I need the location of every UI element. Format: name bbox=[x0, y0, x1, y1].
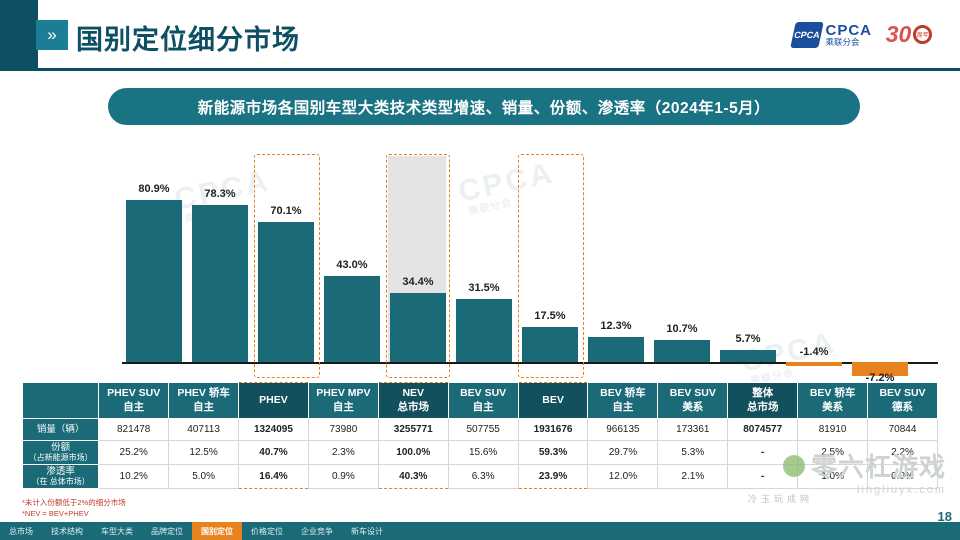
bar-phev-suv-zizhu bbox=[126, 200, 182, 362]
cell-1-8: 5.3% bbox=[658, 441, 728, 465]
cell-2-10: 1.0% bbox=[798, 464, 868, 488]
col-header-2: PHEV bbox=[239, 383, 309, 419]
footnotes: *未计入份额低于2%的细分市场 *NEV = BEV+PHEV bbox=[22, 498, 126, 520]
col-header-1-l2: 自主 bbox=[193, 401, 214, 413]
col-header-9: 整体 总市场 bbox=[728, 383, 798, 419]
footer-item-1[interactable]: 技术结构 bbox=[42, 522, 92, 540]
row-header-2-label: 渗透率 bbox=[46, 466, 75, 477]
cpca-logo-text: CPCA 乘联分会 bbox=[825, 23, 872, 48]
col-header-0-l1: PHEV SUV bbox=[107, 387, 160, 399]
bar-chart: CPCA 乘联分会 CPCA 乘联分会 CPCA 乘联分会 80.9% 78.3… bbox=[22, 140, 938, 378]
col-header-5-l1: BEV SUV bbox=[460, 387, 506, 399]
bar-bev-suv-zizhu bbox=[456, 299, 512, 362]
anniversary-logo: 30 周年 bbox=[880, 18, 938, 50]
footer-item-6[interactable]: 企业竞争 bbox=[292, 522, 342, 540]
cell-2-11: 0.9% bbox=[868, 464, 938, 488]
cell-1-6: 59.3% bbox=[518, 441, 588, 465]
bar-bev-sedan-meixi bbox=[786, 362, 842, 366]
site-watermark-mid: 冷玉玩成网 bbox=[748, 492, 813, 505]
bar-label-7: 12.3% bbox=[582, 320, 650, 332]
table-corner-cell bbox=[23, 383, 99, 419]
footer-item-5[interactable]: 价格定位 bbox=[242, 522, 292, 540]
col-header-8: BEV SUV 美系 bbox=[658, 383, 728, 419]
footer-item-7[interactable]: 新车设计 bbox=[342, 522, 392, 540]
col-header-6: BEV bbox=[518, 383, 588, 419]
anniversary-ring-icon: 周年 bbox=[913, 25, 932, 44]
footnote-1: *NEV = BEV+PHEV bbox=[22, 509, 126, 520]
col-header-2-l1: PHEV bbox=[259, 394, 288, 406]
cell-1-2: 40.7% bbox=[239, 441, 309, 465]
row-header-2-sub: （在 总体市场） bbox=[24, 477, 97, 487]
row-header-0-label: 销量（辆） bbox=[37, 424, 85, 435]
col-header-11-l1: BEV SUV bbox=[879, 387, 925, 399]
col-header-0: PHEV SUV 自主 bbox=[99, 383, 169, 419]
col-header-10-l2: 美系 bbox=[822, 401, 843, 413]
col-header-10: BEV 轿车 美系 bbox=[798, 383, 868, 419]
footer-item-3[interactable]: 品牌定位 bbox=[142, 522, 192, 540]
cell-0-3: 73980 bbox=[308, 419, 378, 441]
cpca-logo-mark: CPCA bbox=[791, 22, 825, 48]
col-header-3-l2: 自主 bbox=[333, 401, 354, 413]
col-header-3-l1: PHEV MPV bbox=[316, 387, 370, 399]
bar-label-5: 31.5% bbox=[450, 282, 518, 294]
col-header-11: BEV SUV 德系 bbox=[868, 383, 938, 419]
table-header-row: PHEV SUV 自主 PHEV 轿车 自主 PHEV PHEV MPV 自主 … bbox=[23, 383, 938, 419]
chevron-right-icon: » bbox=[36, 20, 68, 50]
page-header: » 国别定位细分市场 CPCA CPCA 乘联分会 30 周年 bbox=[0, 0, 960, 68]
row-header-1-sub: （占新能源市场） bbox=[24, 453, 97, 463]
bar-label-0: 80.9% bbox=[120, 183, 188, 195]
cpca-logo-text-main: CPCA bbox=[825, 23, 872, 39]
watermark-cpca-2-sub: 乘联分会 bbox=[467, 194, 513, 218]
cell-2-1: 5.0% bbox=[169, 464, 239, 488]
col-header-3: PHEV MPV 自主 bbox=[308, 383, 378, 419]
col-header-4-l2: 总市场 bbox=[398, 401, 430, 413]
col-header-9-l2: 总市场 bbox=[747, 401, 779, 413]
table-row: 销量（辆） 821478 407113 1324095 73980 325577… bbox=[23, 419, 938, 441]
row-header-1-label: 份额 bbox=[51, 442, 70, 453]
bar-label-8: 10.7% bbox=[648, 323, 716, 335]
cell-1-10: 2.5% bbox=[798, 441, 868, 465]
cpca-logo-text-sub: 乘联分会 bbox=[825, 38, 872, 47]
cpca-logo: CPCA CPCA 乘联分会 bbox=[793, 20, 872, 50]
data-table-wrapper: PHEV SUV 自主 PHEV 轿车 自主 PHEV PHEV MPV 自主 … bbox=[22, 382, 938, 489]
highlight-box-bev bbox=[518, 154, 584, 378]
cell-0-6: 1931676 bbox=[518, 419, 588, 441]
cell-1-9: - bbox=[728, 441, 798, 465]
cell-1-3: 2.3% bbox=[308, 441, 378, 465]
bar-bev-suv-meixi bbox=[654, 340, 710, 362]
cell-0-4: 3255771 bbox=[378, 419, 448, 441]
col-header-1: PHEV 轿车 自主 bbox=[169, 383, 239, 419]
cell-2-9: - bbox=[728, 464, 798, 488]
bar-phev-sedan-zizhu bbox=[192, 205, 248, 362]
cell-0-2: 1324095 bbox=[239, 419, 309, 441]
cell-2-8: 2.1% bbox=[658, 464, 728, 488]
table-row: 渗透率 （在 总体市场） 10.2% 5.0% 16.4% 0.9% 40.3%… bbox=[23, 464, 938, 488]
cell-0-11: 70844 bbox=[868, 419, 938, 441]
cell-0-1: 407113 bbox=[169, 419, 239, 441]
highlight-box-nev bbox=[386, 154, 450, 378]
cell-2-6: 23.9% bbox=[518, 464, 588, 488]
cell-2-5: 6.3% bbox=[448, 464, 518, 488]
footer-item-0[interactable]: 总市场 bbox=[0, 522, 42, 540]
cell-2-2: 16.4% bbox=[239, 464, 309, 488]
footer-nav: 总市场 技术结构 车型大类 品牌定位 国别定位 价格定位 企业竞争 新车设计 bbox=[0, 522, 960, 540]
bar-overall-total bbox=[720, 350, 776, 362]
row-header-2: 渗透率 （在 总体市场） bbox=[23, 464, 99, 488]
data-table: PHEV SUV 自主 PHEV 轿车 自主 PHEV PHEV MPV 自主 … bbox=[22, 382, 938, 489]
col-header-10-l1: BEV 轿车 bbox=[810, 387, 856, 399]
cell-2-3: 0.9% bbox=[308, 464, 378, 488]
header-divider bbox=[0, 68, 960, 71]
col-header-7-l1: BEV 轿车 bbox=[600, 387, 646, 399]
row-header-1: 份额 （占新能源市场） bbox=[23, 441, 99, 465]
cell-2-7: 12.0% bbox=[588, 464, 658, 488]
footnote-0: *未计入份额低于2%的细分市场 bbox=[22, 498, 126, 509]
bar-label-10: -1.4% bbox=[780, 346, 848, 358]
col-header-7: BEV 轿车 自主 bbox=[588, 383, 658, 419]
col-header-1-l1: PHEV 轿车 bbox=[177, 387, 230, 399]
highlight-box-phev bbox=[254, 154, 320, 378]
cell-0-10: 81910 bbox=[798, 419, 868, 441]
col-header-0-l2: 自主 bbox=[123, 401, 144, 413]
footer-item-2[interactable]: 车型大类 bbox=[92, 522, 142, 540]
cell-1-11: 2.2% bbox=[868, 441, 938, 465]
page-title: 国别定位细分市场 bbox=[76, 18, 300, 57]
bar-label-1: 78.3% bbox=[186, 188, 254, 200]
col-header-5: BEV SUV 自主 bbox=[448, 383, 518, 419]
bar-label-9: 5.7% bbox=[714, 333, 782, 345]
cell-0-0: 821478 bbox=[99, 419, 169, 441]
bar-label-3: 43.0% bbox=[318, 259, 386, 271]
chart-title-banner: 新能源市场各国别车型大类技术类型增速、销量、份额、渗透率（2024年1-5月） bbox=[108, 88, 860, 125]
col-header-4-l1: NEV bbox=[402, 387, 424, 399]
cell-1-4: 100.0% bbox=[378, 441, 448, 465]
cell-2-4: 40.3% bbox=[378, 464, 448, 488]
page-number: 18 bbox=[938, 509, 952, 524]
col-header-4: NEV 总市场 bbox=[378, 383, 448, 419]
cell-1-0: 25.2% bbox=[99, 441, 169, 465]
footer-item-4[interactable]: 国别定位 bbox=[192, 522, 242, 540]
col-header-5-l2: 自主 bbox=[473, 401, 494, 413]
cell-1-7: 29.7% bbox=[588, 441, 658, 465]
bar-bev-sedan-zizhu bbox=[588, 337, 644, 362]
table-row: 份额 （占新能源市场） 25.2% 12.5% 40.7% 2.3% 100.0… bbox=[23, 441, 938, 465]
col-header-11-l2: 德系 bbox=[892, 401, 913, 413]
cell-0-5: 507755 bbox=[448, 419, 518, 441]
col-header-8-l1: BEV SUV bbox=[670, 387, 716, 399]
cell-0-8: 173361 bbox=[658, 419, 728, 441]
cell-1-1: 12.5% bbox=[169, 441, 239, 465]
anniversary-number: 30 bbox=[886, 21, 912, 48]
col-header-9-l1: 整体 bbox=[752, 387, 773, 399]
cell-0-7: 966135 bbox=[588, 419, 658, 441]
header-accent-bar bbox=[0, 0, 38, 68]
col-header-7-l2: 自主 bbox=[612, 401, 633, 413]
bar-phev-mpv-zizhu bbox=[324, 276, 380, 362]
cell-0-9: 8074577 bbox=[728, 419, 798, 441]
col-header-6-l1: BEV bbox=[542, 394, 564, 406]
cell-2-0: 10.2% bbox=[99, 464, 169, 488]
cell-1-5: 15.6% bbox=[448, 441, 518, 465]
row-header-0: 销量（辆） bbox=[23, 419, 99, 441]
col-header-8-l2: 美系 bbox=[682, 401, 703, 413]
